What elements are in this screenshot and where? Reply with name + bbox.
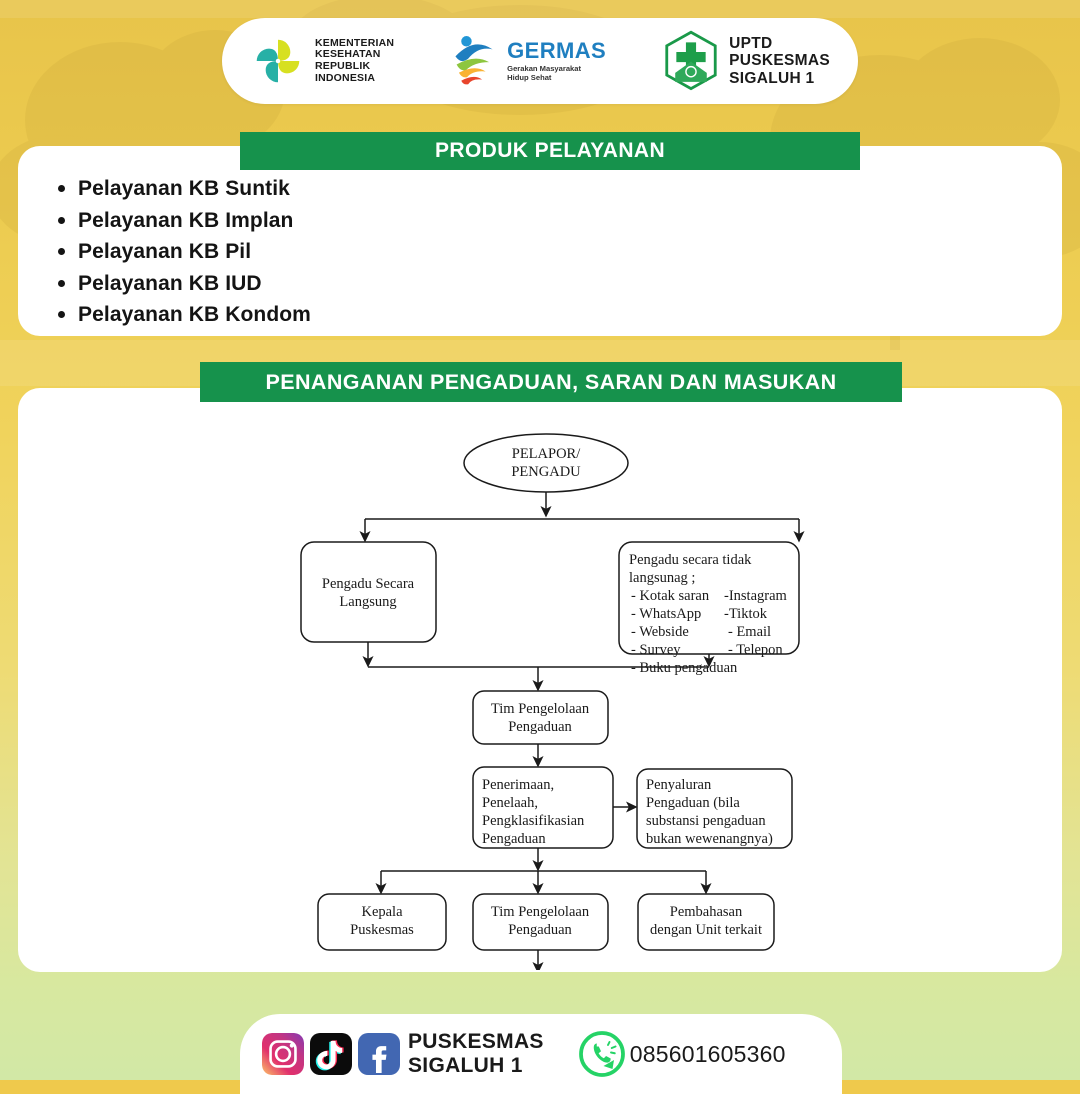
flow-team-line-2: Pengaduan [508, 719, 572, 735]
germas-sub-1: Gerakan Masyarakat [507, 64, 606, 73]
produk-pelayanan-list: Pelayanan KB Suntik Pelayanan KB Implan … [40, 178, 311, 336]
list-item: Pelayanan KB Pil [78, 241, 311, 262]
germas-subtitle: Gerakan Masyarakat Hidup Sehat [507, 64, 606, 83]
uptd-logo-text: UPTD PUSKESMAS SIGALUH 1 [729, 35, 830, 87]
kemenkes-logo-text: KEMENTERIAN KESEHATAN REPUBLIK INDONESIA [315, 38, 394, 85]
flow-process-line-1: Penerimaan, [482, 777, 554, 793]
flow-indirect-left-5: - Buku pengaduan [631, 660, 738, 676]
uptd-line-3: SIGALUH 1 [729, 70, 830, 87]
flow-head-line-2: Puskesmas [350, 922, 414, 938]
penanganan-pengaduan-card: PELAPOR/ PENGADU Pengadu Secara Langsung… [18, 388, 1062, 972]
bg-stripe-2 [0, 0, 1080, 18]
list-item: Pelayanan KB IUD [78, 273, 311, 294]
flow-indirect-right-4: - Telepon [728, 642, 783, 658]
flow-start-line-1: PELAPOR/ [512, 446, 581, 462]
list-item: Pelayanan KB Implan [78, 210, 311, 231]
facebook-icon[interactable] [358, 1033, 400, 1075]
flow-indirect-title-1: Pengadu secara tidak [629, 552, 752, 568]
flow-direct-line-2: Langsung [339, 594, 396, 610]
whatsapp-group: 085601605360 [578, 1030, 786, 1078]
logo-uptd-puskesmas: UPTD PUSKESMAS SIGALUH 1 [662, 30, 830, 92]
germas-logo-text: GERMAS Gerakan Masyarakat Hidup Sehat [507, 40, 606, 83]
handle-line-1: PUSKESMAS [408, 1030, 544, 1054]
flow-discussion-line-1: Pembahasan [670, 904, 743, 920]
uptd-line-1: UPTD [729, 35, 830, 52]
flow-forward-line-2: Pengaduan (bila [646, 795, 740, 811]
flow-indirect-left-2: - WhatsApp [631, 606, 701, 622]
kemenkes-flower-icon [250, 33, 306, 89]
flow-indirect-right-3: - Email [728, 624, 771, 640]
flow-indirect-right-2: -Tiktok [724, 606, 768, 622]
flow-team-line-1: Tim Pengelolaan [491, 701, 590, 717]
flow-indirect-left-3: - Webside [631, 624, 689, 640]
flow-process-line-3: Pengklasifikasian [482, 813, 585, 829]
logo-germas: GERMAS Gerakan Masyarakat Hidup Sehat [450, 32, 606, 90]
pengaduan-flowchart: PELAPOR/ PENGADU Pengadu Secara Langsung… [18, 414, 1062, 970]
flow-forward-line-1: Penyaluran [646, 777, 712, 793]
germas-figure-icon [450, 32, 498, 90]
social-icon-group [262, 1033, 400, 1075]
flowchart-svg: PELAPOR/ PENGADU Pengadu Secara Langsung… [18, 414, 1062, 970]
flow-start-line-2: PENGADU [511, 464, 581, 480]
flow-indirect-left-4: - Survey [631, 642, 681, 658]
social-handle: PUSKESMAS SIGALUH 1 [408, 1030, 544, 1077]
flow-forward-line-4: bukan wewenangnya) [646, 831, 773, 847]
flow-team2-line-2: Pengaduan [508, 922, 572, 938]
flow-discussion-line-2: dengan Unit terkait [650, 922, 762, 938]
flow-indirect-right-1: -Instagram [724, 588, 788, 604]
footer-contact-bar: PUSKESMAS SIGALUH 1 085601605360 [240, 1014, 842, 1094]
penanganan-pengaduan-banner: PENANGANAN PENGADUAN, SARAN DAN MASUKAN [200, 362, 902, 402]
germas-sub-2: Hidup Sehat [507, 73, 606, 82]
flow-process-line-4: Pengaduan [482, 831, 546, 847]
whatsapp-phone-number: 085601605360 [630, 1041, 786, 1068]
instagram-icon[interactable] [262, 1033, 304, 1075]
logo-kemenkes: KEMENTERIAN KESEHATAN REPUBLIK INDONESIA [250, 33, 394, 89]
list-item: Pelayanan KB Kondom [78, 304, 311, 325]
produk-pelayanan-banner: PRODUK PELAYANAN [240, 132, 860, 170]
tiktok-icon[interactable] [310, 1033, 352, 1075]
flow-direct-line-1: Pengadu Secara [322, 576, 415, 592]
germas-title: GERMAS [507, 40, 606, 62]
whatsapp-icon[interactable] [578, 1030, 626, 1078]
flow-process-line-2: Penelaah, [482, 795, 538, 811]
flow-forward-line-3: substansi pengaduan [646, 813, 766, 829]
list-item: Pelayanan KB Suntik [78, 178, 311, 199]
produk-pelayanan-card: Pelayanan KB Suntik Pelayanan KB Implan … [18, 146, 1062, 336]
flow-team2-line-1: Tim Pengelolaan [491, 904, 590, 920]
kemenkes-line-3: REPUBLIK [315, 61, 394, 73]
flow-head-line-1: Kepala [361, 904, 403, 920]
flow-indirect-left-1: - Kotak saran [631, 588, 710, 604]
handle-line-2: SIGALUH 1 [408, 1054, 544, 1078]
puskesmas-hexagon-cross-icon [662, 30, 720, 92]
header-logo-bar: KEMENTERIAN KESEHATAN REPUBLIK INDONESIA… [222, 18, 858, 104]
uptd-line-2: PUSKESMAS [729, 52, 830, 69]
kemenkes-line-4: INDONESIA [315, 73, 394, 85]
flow-indirect-title-2: langsunag ; [629, 570, 695, 586]
